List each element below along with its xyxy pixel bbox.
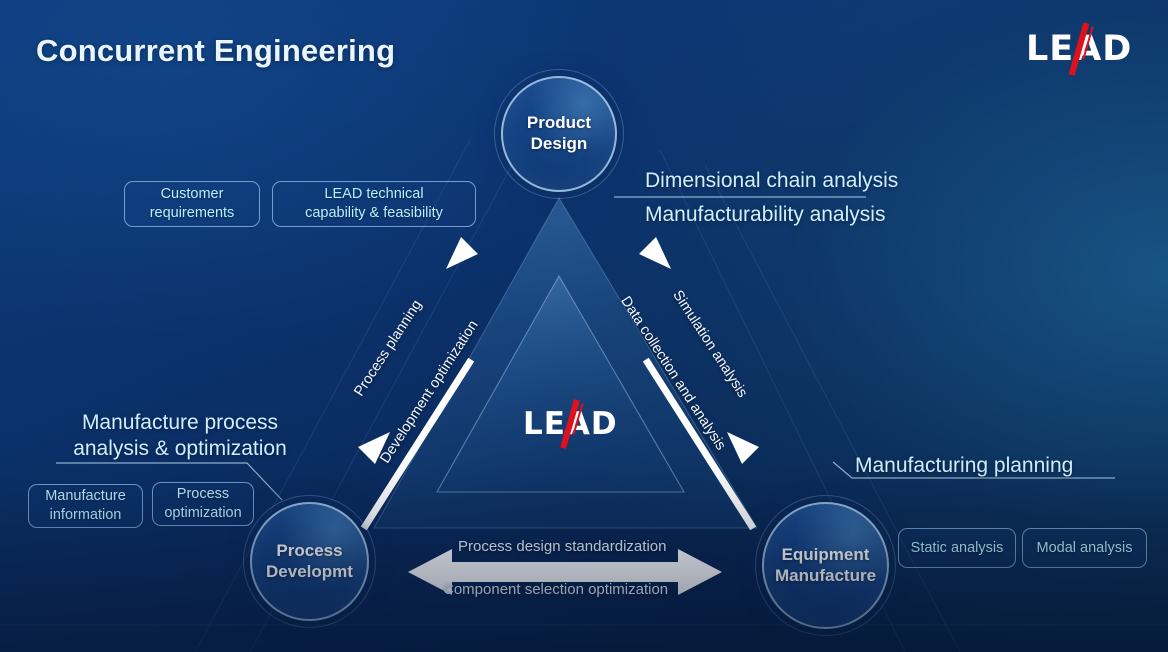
node-label-line2: Design <box>531 134 588 153</box>
lead-logo-center: LEAD <box>523 403 609 447</box>
callout-manufacturability-analysis: Manufacturability analysis <box>645 201 885 229</box>
node-process-development[interactable]: Process Developmt <box>250 502 369 621</box>
pill-label: Processoptimization <box>164 485 241 522</box>
lead-logo-top-right: LEAD <box>1026 25 1122 75</box>
pill-manufacture-information[interactable]: Manufactureinformation <box>28 484 143 528</box>
pill-modal-analysis[interactable]: Modal analysis <box>1022 528 1147 568</box>
pill-static-analysis[interactable]: Static analysis <box>898 528 1016 568</box>
pill-label: LEAD technicalcapability & feasibility <box>305 185 443 222</box>
pill-customer-requirements[interactable]: Customerrequirements <box>124 181 260 227</box>
pill-label: Customerrequirements <box>150 185 235 222</box>
pill-lead-technical-capability[interactable]: LEAD technicalcapability & feasibility <box>272 181 476 227</box>
callout-manufacture-process-analysis: Manufacture processanalysis & optimizati… <box>50 410 310 462</box>
node-label-line1: Product <box>527 113 591 132</box>
callout-manufacturing-planning: Manufacturing planning <box>855 452 1073 480</box>
node-label-line2: Developmt <box>266 562 353 581</box>
slide-canvas: Concurrent Engineering LEAD LEAD Product… <box>0 0 1168 652</box>
node-label: Product Design <box>527 113 591 154</box>
callout-dimensional-chain-analysis: Dimensional chain analysis <box>645 167 898 195</box>
pill-label: Manufactureinformation <box>45 487 126 524</box>
pill-label: Modal analysis <box>1037 539 1133 558</box>
node-equipment-manufacture[interactable]: Equipment Manufacture <box>762 502 889 629</box>
node-product-design[interactable]: Product Design <box>501 76 617 192</box>
node-label: Equipment Manufacture <box>775 545 876 586</box>
pill-process-optimization[interactable]: Processoptimization <box>152 482 254 526</box>
node-label: Process Developmt <box>266 541 353 582</box>
node-label-line1: Process <box>276 541 342 560</box>
node-label-line1: Equipment <box>782 545 870 564</box>
pill-label: Static analysis <box>911 539 1004 558</box>
arrow-label-process-design-standardization: Process design standardization <box>458 538 666 555</box>
arrow-label-component-selection-optimization: Component selection optimization <box>443 581 668 598</box>
page-title: Concurrent Engineering <box>36 33 395 69</box>
node-label-line2: Manufacture <box>775 566 876 585</box>
